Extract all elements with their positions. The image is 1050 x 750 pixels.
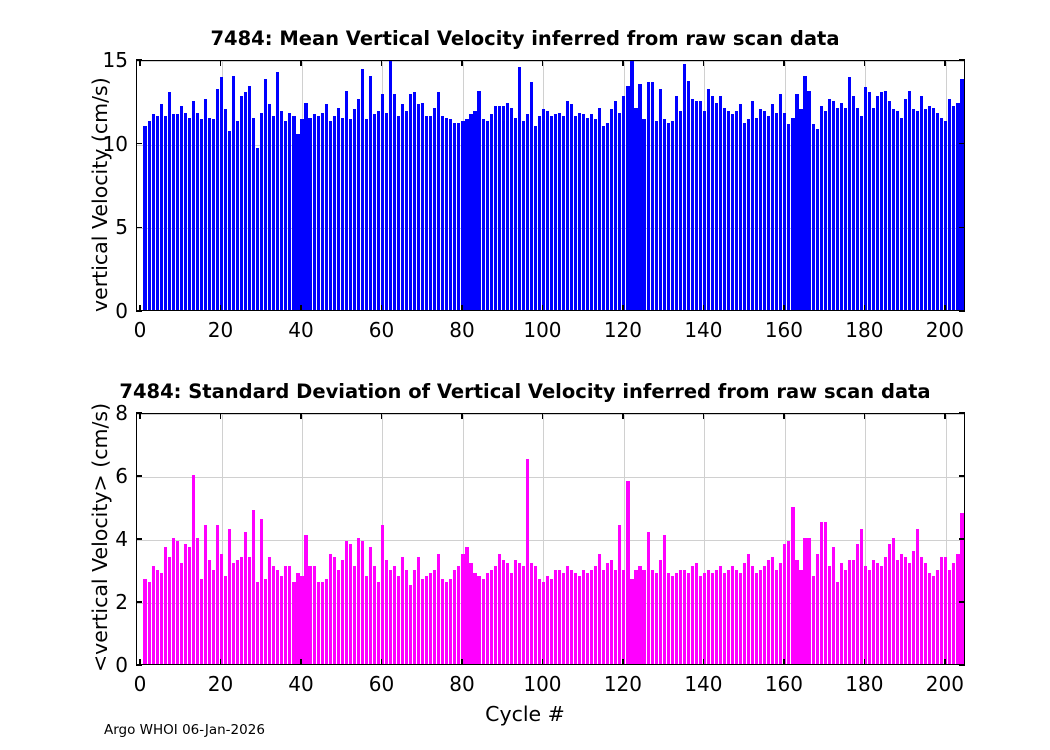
- x-axis-tick-label: 200: [926, 672, 964, 696]
- bar: [256, 148, 259, 310]
- bar: [236, 121, 239, 310]
- bar: [795, 94, 798, 310]
- bar: [783, 544, 786, 664]
- bar: [550, 116, 553, 310]
- bar: [562, 573, 565, 664]
- bar: [317, 116, 320, 310]
- bar: [365, 119, 368, 310]
- bar: [707, 89, 710, 310]
- bar: [256, 582, 259, 664]
- bar: [143, 126, 146, 310]
- bar: [944, 121, 947, 310]
- bar: [920, 557, 923, 664]
- bar: [956, 103, 959, 310]
- x-axis-tick: [542, 60, 543, 66]
- bar: [566, 566, 569, 664]
- bar: [200, 119, 203, 310]
- bar: [683, 64, 686, 310]
- bar: [807, 538, 810, 664]
- bar: [791, 118, 794, 310]
- bar: [598, 108, 601, 310]
- x-axis-tick-label: 140: [684, 672, 722, 696]
- bar: [836, 108, 839, 310]
- bar: [329, 121, 332, 310]
- bar: [502, 106, 505, 310]
- bar: [486, 573, 489, 664]
- x-axis-tick: [622, 659, 623, 665]
- bar: [763, 111, 766, 310]
- bar: [321, 582, 324, 664]
- bar: [313, 114, 316, 310]
- bar: [924, 109, 927, 310]
- bar: [148, 582, 151, 664]
- x-axis-tick-label: 100: [523, 318, 561, 342]
- bar: [220, 77, 223, 310]
- bar: [602, 126, 605, 310]
- bar: [751, 101, 754, 310]
- bar: [659, 560, 662, 664]
- bar: [735, 570, 738, 665]
- chart-title-std-velocity: 7484: Standard Deviation of Vertical Vel…: [0, 380, 1050, 403]
- y-axis-tick: [136, 412, 142, 413]
- bar: [304, 535, 307, 664]
- bar: [441, 116, 444, 310]
- bar: [667, 573, 670, 664]
- bar: [216, 525, 219, 664]
- x-axis-tick: [461, 60, 462, 66]
- x-axis-tick-label: 160: [765, 672, 803, 696]
- bar: [156, 570, 159, 665]
- bar: [743, 563, 746, 664]
- bar: [787, 124, 790, 310]
- bar: [453, 570, 456, 665]
- bar: [268, 104, 271, 310]
- bar: [429, 573, 432, 664]
- bar: [763, 566, 766, 664]
- bar: [180, 106, 183, 310]
- bar: [872, 560, 875, 664]
- bar: [799, 570, 802, 665]
- x-axis-tick: [220, 659, 221, 665]
- bar: [494, 106, 497, 310]
- bar: [333, 557, 336, 664]
- bar: [369, 547, 372, 664]
- x-axis-tick: [300, 413, 301, 419]
- x-axis-tick-label: 120: [604, 672, 642, 696]
- bar: [586, 118, 589, 310]
- bar: [554, 570, 557, 665]
- bar: [357, 538, 360, 664]
- bar: [703, 573, 706, 664]
- bar: [361, 541, 364, 664]
- bar: [530, 563, 533, 664]
- bar: [896, 560, 899, 664]
- bar: [397, 576, 400, 664]
- bar: [349, 119, 352, 310]
- bar: [832, 547, 835, 664]
- bar: [602, 570, 605, 665]
- bar: [248, 86, 251, 310]
- bar: [630, 61, 633, 310]
- x-axis-tick: [300, 60, 301, 66]
- x-axis-tick: [220, 60, 221, 66]
- bar: [719, 566, 722, 664]
- bar: [530, 82, 533, 310]
- bar: [148, 121, 151, 310]
- x-axis-tick: [461, 659, 462, 665]
- bar: [852, 96, 855, 310]
- bar: [405, 111, 408, 310]
- bar: [465, 119, 468, 310]
- bar: [594, 119, 597, 310]
- x-axis-tick: [944, 659, 945, 665]
- bar: [308, 118, 311, 310]
- bar: [626, 481, 629, 664]
- x-axis-tick: [864, 305, 865, 311]
- bar: [803, 76, 806, 310]
- bar: [433, 570, 436, 665]
- x-axis-tick-label: 60: [369, 672, 394, 696]
- bar: [948, 570, 951, 665]
- bar: [482, 119, 485, 310]
- bar: [727, 111, 730, 310]
- bar: [836, 582, 839, 664]
- bar: [260, 519, 263, 664]
- bar: [482, 579, 485, 664]
- x-axis-tick: [381, 305, 382, 311]
- bar: [337, 108, 340, 310]
- bar: [385, 560, 388, 664]
- bar: [522, 566, 525, 664]
- bar: [868, 92, 871, 310]
- bar: [638, 84, 641, 310]
- bar: [224, 109, 227, 310]
- bar: [461, 121, 464, 310]
- x-axis-tick: [622, 305, 623, 311]
- bar: [365, 576, 368, 664]
- bar: [409, 585, 412, 664]
- bar: [755, 573, 758, 664]
- bar: [409, 94, 412, 310]
- bar: [960, 513, 963, 664]
- x-axis-tick-label: 80: [449, 318, 474, 342]
- bar: [397, 116, 400, 310]
- bar: [292, 582, 295, 664]
- bar: [655, 573, 658, 664]
- y-axis-tick: [959, 59, 965, 60]
- x-axis-tick: [300, 659, 301, 665]
- bar: [421, 103, 424, 310]
- bar: [473, 573, 476, 664]
- bar: [156, 116, 159, 310]
- bar: [663, 119, 666, 310]
- bar: [940, 118, 943, 310]
- bar: [868, 570, 871, 665]
- bar: [578, 576, 581, 664]
- y-axis-tick: [959, 601, 965, 602]
- bar: [477, 91, 480, 310]
- bar: [912, 109, 915, 310]
- bar: [816, 129, 819, 310]
- bar: [184, 544, 187, 664]
- bar: [655, 121, 658, 310]
- bar: [160, 573, 163, 664]
- bar: [618, 525, 621, 664]
- bar: [928, 106, 931, 310]
- x-axis-tick-label: 0: [134, 672, 147, 696]
- bar: [735, 111, 738, 310]
- bar: [445, 582, 448, 664]
- bar: [200, 579, 203, 664]
- bar: [860, 116, 863, 310]
- bar: [168, 92, 171, 310]
- x-axis-tick: [622, 60, 623, 66]
- bar: [296, 573, 299, 664]
- y-axis-tick: [959, 310, 965, 311]
- bar: [361, 69, 364, 310]
- x-axis-tick-label: 80: [449, 672, 474, 696]
- bar: [558, 570, 561, 665]
- bar: [856, 108, 859, 310]
- bar: [168, 557, 171, 664]
- bar: [381, 525, 384, 664]
- bar: [377, 582, 380, 664]
- bar: [546, 111, 549, 310]
- bar: [304, 103, 307, 310]
- bar: [642, 570, 645, 665]
- bar: [244, 532, 247, 664]
- bar: [389, 61, 392, 310]
- bar: [562, 116, 565, 310]
- bar: [369, 76, 372, 310]
- bar: [526, 114, 529, 310]
- bar: [711, 96, 714, 310]
- footer-credit: Argo WHOI 06-Jan-2026: [104, 722, 265, 738]
- bar: [232, 76, 235, 310]
- bar: [691, 566, 694, 664]
- bar: [244, 92, 247, 310]
- y-axis-tick: [959, 227, 965, 228]
- x-axis-tick: [944, 60, 945, 66]
- bar: [260, 113, 263, 310]
- y-axis-tick: [136, 664, 142, 665]
- bar: [622, 570, 625, 665]
- bar: [457, 123, 460, 310]
- x-axis-tick-label: 180: [845, 318, 883, 342]
- bar: [268, 557, 271, 664]
- bar: [803, 538, 806, 664]
- bar: [465, 547, 468, 664]
- bar: [276, 72, 279, 310]
- bar: [799, 109, 802, 310]
- x-axis-tick: [703, 60, 704, 66]
- bar: [626, 86, 629, 310]
- bar: [582, 570, 585, 665]
- x-axis-tick-label: 20: [208, 672, 233, 696]
- x-axis-tick: [542, 413, 543, 419]
- bar: [188, 547, 191, 664]
- bar: [272, 116, 275, 310]
- bar: [526, 459, 529, 664]
- bar: [622, 96, 625, 310]
- bar: [377, 111, 380, 310]
- bar: [767, 560, 770, 664]
- bar: [807, 91, 810, 310]
- bar: [779, 94, 782, 310]
- bar: [651, 82, 654, 310]
- bar: [353, 109, 356, 310]
- bar: [775, 113, 778, 310]
- bar: [707, 570, 710, 665]
- bar: [892, 538, 895, 664]
- bar: [574, 573, 577, 664]
- bar: [317, 582, 320, 664]
- bar: [864, 87, 867, 310]
- bar: [566, 101, 569, 310]
- bar: [522, 121, 525, 310]
- bar: [679, 570, 682, 665]
- bar: [924, 563, 927, 664]
- y-axis-title-mean-velocity: vertical Velocity (cm/s): [88, 77, 112, 312]
- bar: [647, 82, 650, 310]
- bar: [393, 566, 396, 664]
- bar: [164, 116, 167, 310]
- bar: [385, 113, 388, 310]
- x-axis-tick: [783, 305, 784, 311]
- bar: [743, 123, 746, 310]
- bar: [252, 118, 255, 310]
- bar: [248, 557, 251, 664]
- bar: [469, 563, 472, 664]
- x-axis-tick-label: 40: [288, 672, 313, 696]
- x-axis-tick-label: 40: [288, 318, 313, 342]
- x-axis-tick-label: 180: [845, 672, 883, 696]
- gridline-horizontal: [137, 414, 964, 415]
- bar: [791, 507, 794, 665]
- bar: [457, 566, 460, 664]
- bar: [204, 99, 207, 310]
- bar: [723, 108, 726, 310]
- bar: [638, 566, 641, 664]
- x-axis-tick: [944, 305, 945, 311]
- x-axis-tick-label: 60: [369, 318, 394, 342]
- bar: [208, 118, 211, 310]
- bar: [337, 570, 340, 665]
- bar: [558, 113, 561, 310]
- x-axis-tick: [622, 413, 623, 419]
- bar: [461, 554, 464, 664]
- bar: [727, 570, 730, 665]
- bar: [321, 113, 324, 310]
- bar: [618, 113, 621, 310]
- bar: [590, 570, 593, 665]
- bar: [679, 111, 682, 310]
- bar: [723, 573, 726, 664]
- bar: [333, 116, 336, 310]
- x-axis-tick-label: 120: [604, 318, 642, 342]
- bar: [828, 99, 831, 310]
- bar: [948, 99, 951, 310]
- bar: [143, 579, 146, 664]
- bar: [300, 119, 303, 310]
- bar: [844, 570, 847, 665]
- bar: [671, 121, 674, 310]
- bar: [204, 525, 207, 664]
- plot-panel-mean-velocity: [136, 60, 965, 311]
- bar: [445, 118, 448, 310]
- bar: [606, 123, 609, 310]
- bar: [341, 118, 344, 310]
- bar: [960, 79, 963, 310]
- bar: [598, 554, 601, 664]
- bar: [675, 573, 678, 664]
- bar: [783, 113, 786, 310]
- bar: [703, 111, 706, 310]
- bar: [844, 108, 847, 310]
- x-axis-tick-label: 160: [765, 318, 803, 342]
- y-axis-tick-label: 15: [80, 48, 128, 72]
- bar: [663, 535, 666, 664]
- bar: [152, 114, 155, 310]
- bar: [848, 560, 851, 664]
- bar: [518, 67, 521, 310]
- y-axis-tick: [136, 475, 142, 476]
- bar: [719, 96, 722, 310]
- bar: [280, 576, 283, 664]
- bar: [212, 570, 215, 665]
- bar: [373, 566, 376, 664]
- x-axis-tick-label: 100: [523, 672, 561, 696]
- plot-area-mean-velocity: [137, 61, 964, 310]
- bar: [824, 111, 827, 310]
- bar: [490, 570, 493, 665]
- bar: [542, 109, 545, 310]
- y-axis-tick: [136, 538, 142, 539]
- bar: [860, 529, 863, 664]
- bar: [695, 101, 698, 310]
- bar: [349, 544, 352, 664]
- bar: [570, 104, 573, 310]
- bar: [691, 99, 694, 310]
- bar: [659, 89, 662, 310]
- bar: [160, 104, 163, 310]
- x-axis-tick: [300, 305, 301, 311]
- bar: [313, 566, 316, 664]
- bar: [345, 541, 348, 664]
- bar: [510, 108, 513, 310]
- bar: [228, 529, 231, 664]
- bar: [824, 522, 827, 664]
- x-axis-tick: [381, 659, 382, 665]
- bar: [425, 116, 428, 310]
- bar: [944, 557, 947, 664]
- x-axis-tick: [461, 305, 462, 311]
- bar: [494, 566, 497, 664]
- bar: [353, 566, 356, 664]
- bar: [872, 108, 875, 310]
- bar: [240, 96, 243, 310]
- bar: [252, 510, 255, 664]
- bar: [852, 560, 855, 664]
- bar: [180, 563, 183, 664]
- bar: [667, 123, 670, 310]
- bar: [546, 576, 549, 664]
- bar: [473, 111, 476, 310]
- bar: [413, 570, 416, 665]
- bar: [912, 551, 915, 664]
- y-axis-title-std-velocity: <vertical Velocity> (cm/s): [88, 403, 112, 672]
- bar: [502, 560, 505, 664]
